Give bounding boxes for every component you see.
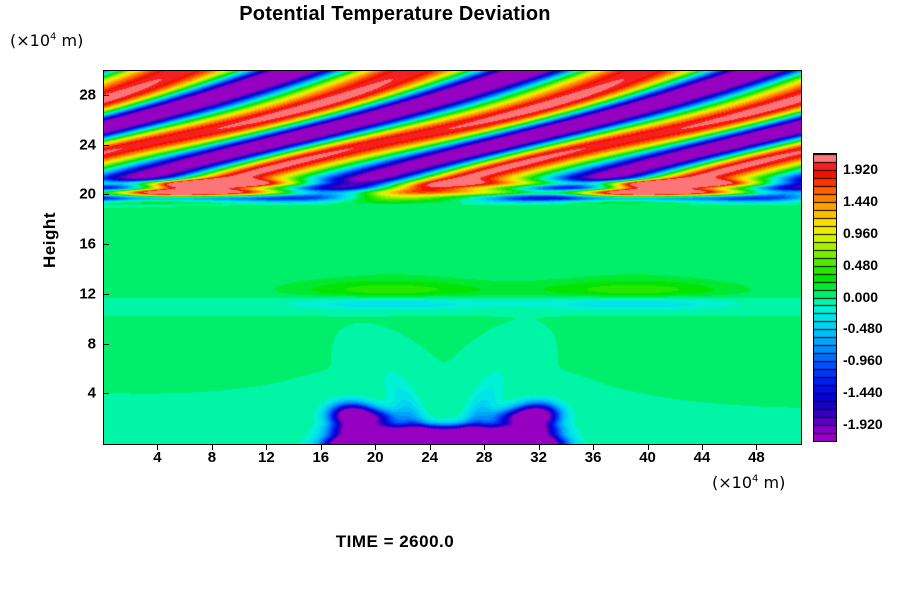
x-axis-tick-label: 32 [517,449,561,466]
colorbar[interactable] [813,153,837,442]
colorbar-tick-label: -1.440 [843,384,883,400]
x-axis-tick-mark [702,444,703,450]
x-axis-tick-mark [539,444,540,450]
x-axis-tick-label: 24 [408,449,452,466]
y-axis-tick-mark [103,145,109,146]
colorbar-tick-label: -0.960 [843,352,883,368]
y-axis-tick-label: 4 [56,385,96,402]
colorbar-tick-label: 1.920 [843,161,878,177]
x-axis-tick-label: 12 [244,449,288,466]
x-axis-tick-mark [321,444,322,450]
y-axis-tick-mark [103,294,109,295]
y-axis-tick-label: 20 [56,186,96,203]
x-axis-tick-label: 20 [353,449,397,466]
x-axis-tick-mark [430,444,431,450]
colorbar-tick-label: 0.960 [843,225,878,241]
colorbar-tick-label: 0.000 [843,289,878,305]
colorbar-tick-label: 1.440 [843,193,878,209]
x-axis-tick-mark [212,444,213,450]
x-axis-tick-label: 16 [299,449,343,466]
colorbar-gradient [814,154,836,441]
x-axis-tick-label: 8 [190,449,234,466]
colorbar-tick-label: -0.480 [843,320,883,336]
x-axis-tick-mark [593,444,594,450]
y-axis-tick-mark [103,244,109,245]
y-axis-tick-label: 8 [56,335,96,352]
x-axis-tick-label: 40 [626,449,670,466]
plot-area[interactable] [103,70,802,445]
y-axis-unit-prefix: (×10 [10,31,50,50]
x-axis-tick-mark [157,444,158,450]
x-axis-tick-label: 48 [734,449,778,466]
y-axis-tick-mark [103,194,109,195]
x-axis-unit-label: (×104 m) [712,473,785,492]
y-axis-tick-mark [103,344,109,345]
x-axis-tick-label: 4 [135,449,179,466]
x-axis-unit-prefix: (×10 [712,473,752,492]
heatmap-canvas [104,71,801,444]
x-axis-tick-label: 28 [462,449,506,466]
x-axis-unit-suffix: m) [758,473,785,492]
y-axis-tick-label: 12 [56,285,96,302]
time-annotation: TIME = 2600.0 [0,532,790,552]
y-axis-tick-mark [103,95,109,96]
x-axis-tick-mark [375,444,376,450]
y-axis-tick-label: 28 [56,86,96,103]
x-axis-tick-label: 36 [571,449,615,466]
page-title: Potential Temperature Deviation [0,3,790,26]
x-axis-tick-mark [756,444,757,450]
x-axis-tick-mark [266,444,267,450]
x-axis-tick-label: 44 [680,449,724,466]
y-axis-tick-mark [103,393,109,394]
x-axis-tick-mark [484,444,485,450]
colorbar-tick-label: 0.480 [843,257,878,273]
y-axis-tick-layer: 481216202428 [50,0,96,600]
y-axis-tick-label: 24 [56,136,96,153]
colorbar-tick-label: -1.920 [843,416,883,432]
y-axis-tick-label: 16 [56,236,96,253]
x-axis-tick-mark [648,444,649,450]
